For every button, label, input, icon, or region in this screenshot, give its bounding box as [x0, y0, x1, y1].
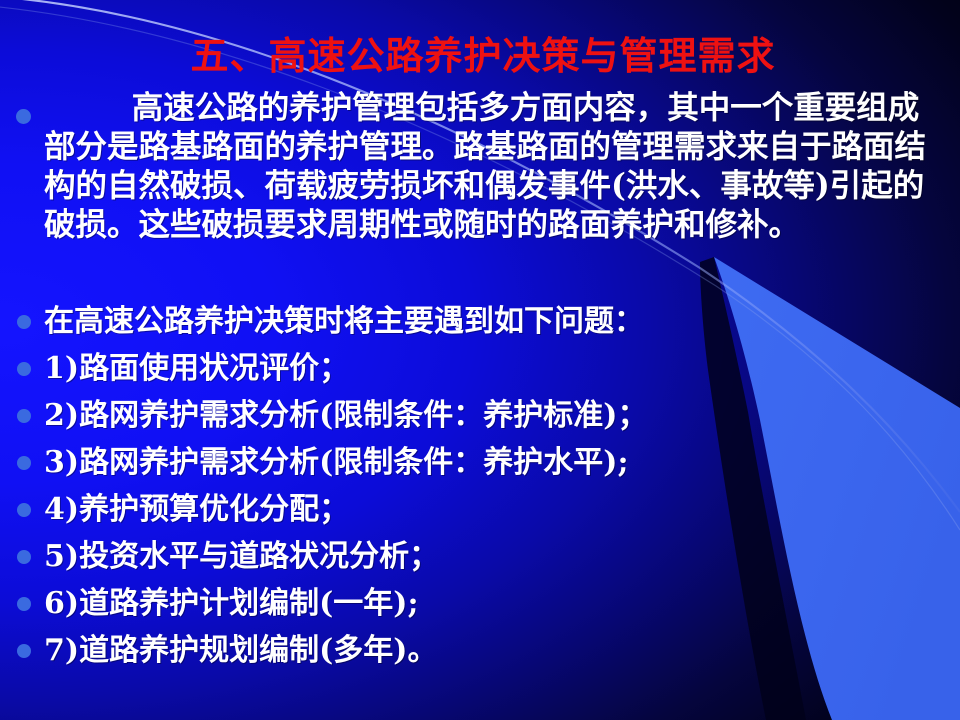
intro-paragraph: 高速公路的养护管理包括多方面内容，其中一个重要组成部分是路基路面的养护管理。路基…: [0, 88, 960, 244]
bullet-marker-icon: [17, 362, 31, 376]
bullet-marker-icon: [17, 597, 31, 611]
list-item: 3)路网养护需求分析(限制条件：养护水平);: [0, 441, 960, 488]
list-item: 6)道路养护计划编制(一年);: [0, 582, 960, 629]
list-item: 1)路面使用状况评价；: [0, 347, 960, 394]
list-item-label: 4)养护预算优化分配；: [44, 488, 960, 532]
bullet-marker-icon: [17, 503, 31, 517]
page-title: 五、高速公路养护决策与管理需求: [0, 34, 960, 78]
bullet-marker-icon: [17, 644, 31, 658]
list-item: 2)路网养护需求分析(限制条件：养护标准)；: [0, 394, 960, 441]
list-item-label: 5)投资水平与道路状况分析；: [44, 535, 960, 579]
list-item: 7)道路养护规划编制(多年)。: [0, 629, 960, 676]
bullet-marker-icon: [17, 456, 31, 470]
list-item-label: 在高速公路养护决策时将主要遇到如下问题：: [44, 300, 960, 344]
bullet-marker-icon: [17, 409, 31, 423]
list-item-label: 1)路面使用状况评价；: [44, 347, 960, 391]
bullet-marker-icon: [17, 550, 31, 564]
list-item-label: 2)路网养护需求分析(限制条件：养护标准)；: [44, 394, 960, 438]
list-item: 在高速公路养护决策时将主要遇到如下问题：: [0, 300, 960, 347]
bullet-marker-icon: [16, 109, 31, 124]
slide-content: 五、高速公路养护决策与管理需求 高速公路的养护管理包括多方面内容，其中一个重要组…: [0, 0, 960, 720]
slide-canvas: 五、高速公路养护决策与管理需求 高速公路的养护管理包括多方面内容，其中一个重要组…: [0, 0, 960, 720]
list-item-label: 3)路网养护需求分析(限制条件：养护水平);: [44, 441, 960, 485]
intro-paragraph-text: 高速公路的养护管理包括多方面内容，其中一个重要组成部分是路基路面的养护管理。路基…: [44, 88, 946, 244]
list-item-label: 7)道路养护规划编制(多年)。: [44, 629, 960, 673]
list-item: 4)养护预算优化分配；: [0, 488, 960, 535]
list-item: 5)投资水平与道路状况分析；: [0, 535, 960, 582]
bullet-list: 在高速公路养护决策时将主要遇到如下问题： 1)路面使用状况评价； 2)路网养护需…: [0, 300, 960, 676]
bullet-marker-icon: [17, 315, 31, 329]
list-item-label: 6)道路养护计划编制(一年);: [44, 582, 960, 626]
